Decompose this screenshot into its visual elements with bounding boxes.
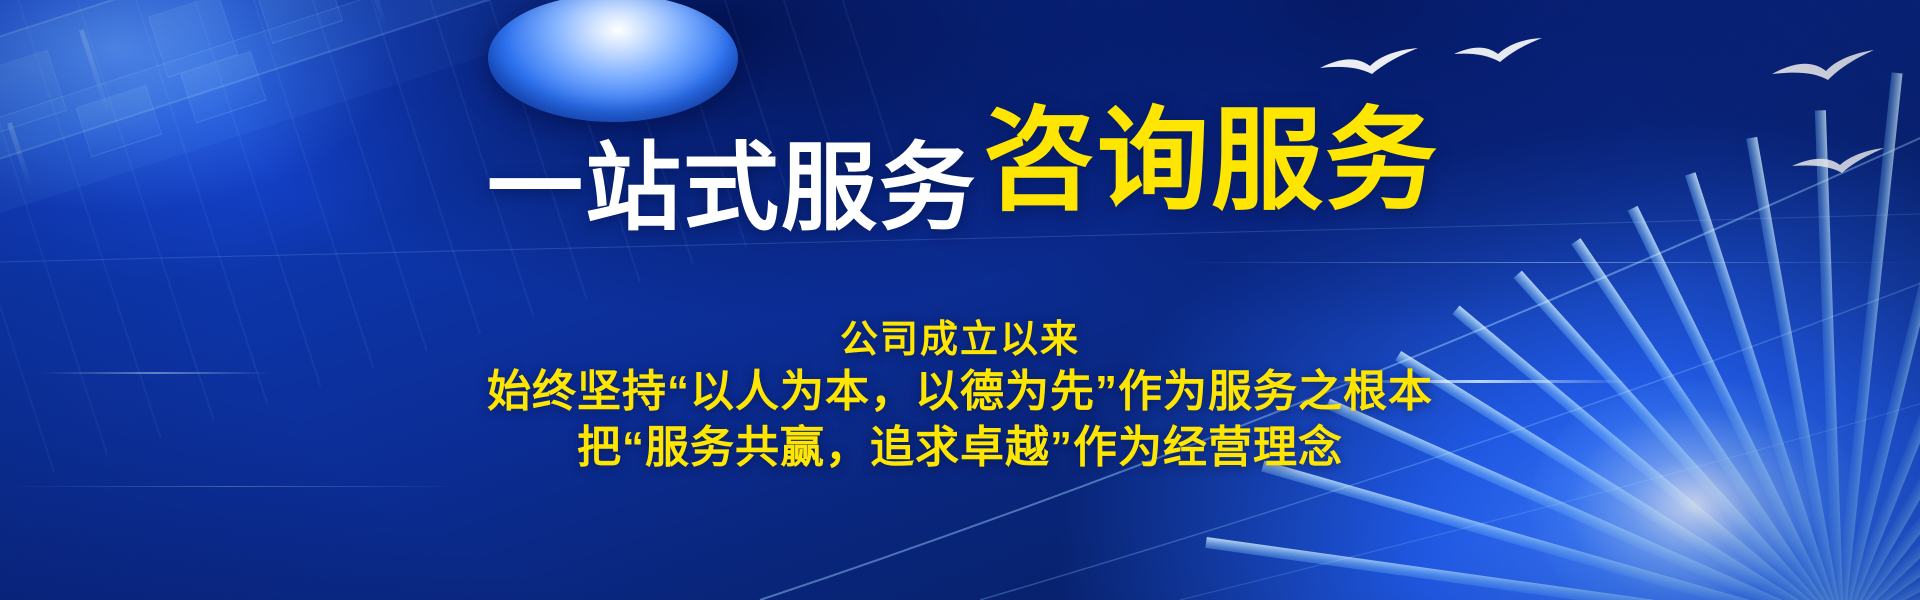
headline: 一站式服务咨询服务 <box>0 92 1920 254</box>
light-streak <box>0 486 460 487</box>
headline-primary: 一站式服务 <box>487 135 977 242</box>
service-banner: 一站式服务咨询服务 公司成立以来 始终坚持“以人为本，以德为先”作为服务之根本 … <box>0 0 1920 600</box>
body-line-1: 公司成立以来 <box>0 316 1920 364</box>
body-line-3: 把“服务共赢，追求卓越”作为经营理念 <box>0 420 1920 476</box>
headline-accent: 咨询服务 <box>983 98 1439 223</box>
light-streak <box>1180 262 1920 263</box>
bird-icon <box>1452 36 1544 70</box>
body-copy: 公司成立以来 始终坚持“以人为本，以德为先”作为服务之根本 把“服务共赢，追求卓… <box>0 316 1920 476</box>
body-line-2: 始终坚持“以人为本，以德为先”作为服务之根本 <box>0 364 1920 420</box>
bird-icon <box>1318 46 1422 82</box>
bird-icon <box>1770 48 1878 88</box>
